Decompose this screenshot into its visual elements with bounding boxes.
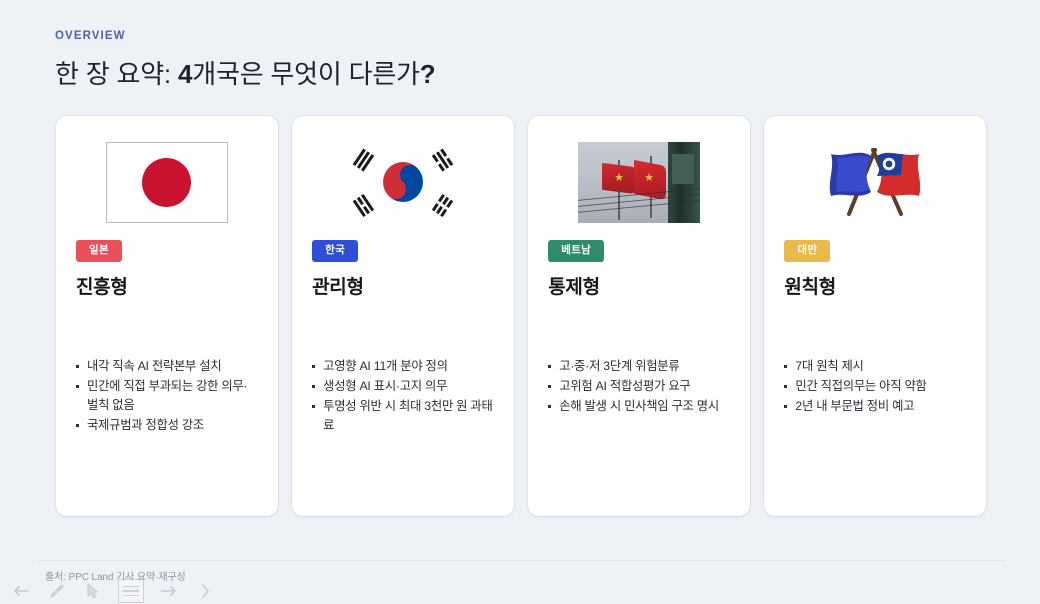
bullet-list-korea: 고영향 AI 11개 분야 정의 생성형 AI 표시·고지 의무 투명성 위반 … — [312, 357, 494, 436]
title-part-mid: 개국은 무엇이 다른가 — [192, 59, 420, 89]
card-korea[interactable]: 한국 관리형 고영향 AI 11개 분야 정의 생성형 AI 표시·고지 의무 … — [292, 116, 514, 516]
chevron-right-icon[interactable] — [194, 581, 216, 601]
slide-canvas: OVERVIEW 한 장 요약: 4개국은 무엇이 다른가? 일본 진흥형 내각… — [0, 0, 1040, 604]
trigram-gam — [430, 149, 454, 173]
status-badge-korea: 한국 — [312, 240, 358, 262]
card-taiwan[interactable]: 대만 원칙형 7대 원칙 제시 민간 직접의무는 아직 약함 2년 내 부문법 … — [764, 116, 986, 516]
japan-flag-disc — [142, 158, 191, 207]
pen-tool-icon[interactable] — [46, 581, 68, 601]
taiwan-crossed-flags-icon — [813, 142, 937, 222]
trigram-geon — [353, 149, 377, 173]
card-title-korea: 관리형 — [312, 276, 494, 301]
list-item: 고위험 AI 적합성평가 요구 — [548, 377, 730, 396]
list-item: 고·중·저 3단계 위험분류 — [548, 357, 730, 376]
presentation-toolbar[interactable] — [0, 578, 230, 604]
status-badge-japan: 일본 — [76, 240, 122, 262]
bullet-list-taiwan: 7대 원칙 제시 민간 직접의무는 아직 약함 2년 내 부문법 정비 예고 — [784, 357, 966, 417]
country-cards-row: 일본 진흥형 내각 직속 AI 전략본부 설치 민간에 직접 부과되는 강한 의… — [56, 116, 986, 516]
bullet-list-japan: 내각 직속 AI 전략본부 설치 민간에 직접 부과되는 강한 의무·벌칙 없음… — [76, 357, 258, 436]
card-title-japan: 진흥형 — [76, 276, 258, 301]
card-title-vietnam: 통제형 — [548, 276, 730, 301]
page-title: 한 장 요약: 4개국은 무엇이 다른가? — [55, 58, 985, 91]
list-item: 투명성 위반 시 최대 3천만 원 과태료 — [312, 397, 494, 435]
slide-header: OVERVIEW 한 장 요약: 4개국은 무엇이 다른가? — [55, 30, 985, 90]
flag-wrap-japan — [76, 138, 258, 226]
previous-slide-icon[interactable] — [10, 581, 32, 601]
vietnam-flag-photo-icon: ★ ★ — [578, 142, 700, 223]
list-item: 7대 원칙 제시 — [784, 357, 966, 376]
flag-wrap-korea — [312, 138, 494, 226]
list-item: 국제규범과 정합성 강조 — [76, 416, 258, 435]
list-item: 생성형 AI 표시·고지 의무 — [312, 377, 494, 396]
status-badge-vietnam: 베트남 — [548, 240, 604, 262]
footer-divider — [38, 560, 1006, 561]
trigram-ri — [353, 193, 377, 217]
card-title-taiwan: 원칙형 — [784, 276, 966, 301]
list-item: 내각 직속 AI 전략본부 설치 — [76, 357, 258, 376]
next-slide-arrow-icon[interactable] — [158, 581, 180, 601]
list-item: 고영향 AI 11개 분야 정의 — [312, 357, 494, 376]
cursor-pointer-icon[interactable] — [82, 581, 104, 601]
list-item: 민간 직접의무는 아직 약함 — [784, 377, 966, 396]
south-korea-flag-icon — [345, 143, 461, 221]
japan-flag-icon — [106, 142, 228, 223]
flag-wrap-taiwan — [784, 138, 966, 226]
flag-star: ★ — [614, 173, 624, 184]
title-part-bold-question: ? — [420, 59, 436, 89]
status-badge-taiwan: 대만 — [784, 240, 830, 262]
flag-wrap-vietnam: ★ ★ — [548, 138, 730, 226]
bullet-list-vietnam: 고·중·저 3단계 위험분류 고위험 AI 적합성평가 요구 손해 발생 시 민… — [548, 357, 730, 417]
eyebrow-label: OVERVIEW — [55, 30, 985, 44]
title-part-bold-number: 4 — [178, 59, 192, 89]
flag-star: ★ — [644, 173, 654, 184]
slide-overview-icon[interactable] — [118, 579, 144, 603]
building-shape — [668, 142, 700, 223]
list-item: 손해 발생 시 민사책임 구조 명시 — [548, 397, 730, 416]
trigram-gon — [430, 193, 454, 217]
card-japan[interactable]: 일본 진흥형 내각 직속 AI 전략본부 설치 민간에 직접 부과되는 강한 의… — [56, 116, 278, 516]
taeguk-circle — [383, 162, 423, 202]
title-part-plain: 한 장 요약: — [55, 59, 178, 89]
card-vietnam[interactable]: ★ ★ 베트남 통제형 고·중·저 3단계 위험분류 고위험 AI 적합성평가 … — [528, 116, 750, 516]
list-item: 민간에 직접 부과되는 강한 의무·벌칙 없음 — [76, 377, 258, 415]
list-item: 2년 내 부문법 정비 예고 — [784, 397, 966, 416]
